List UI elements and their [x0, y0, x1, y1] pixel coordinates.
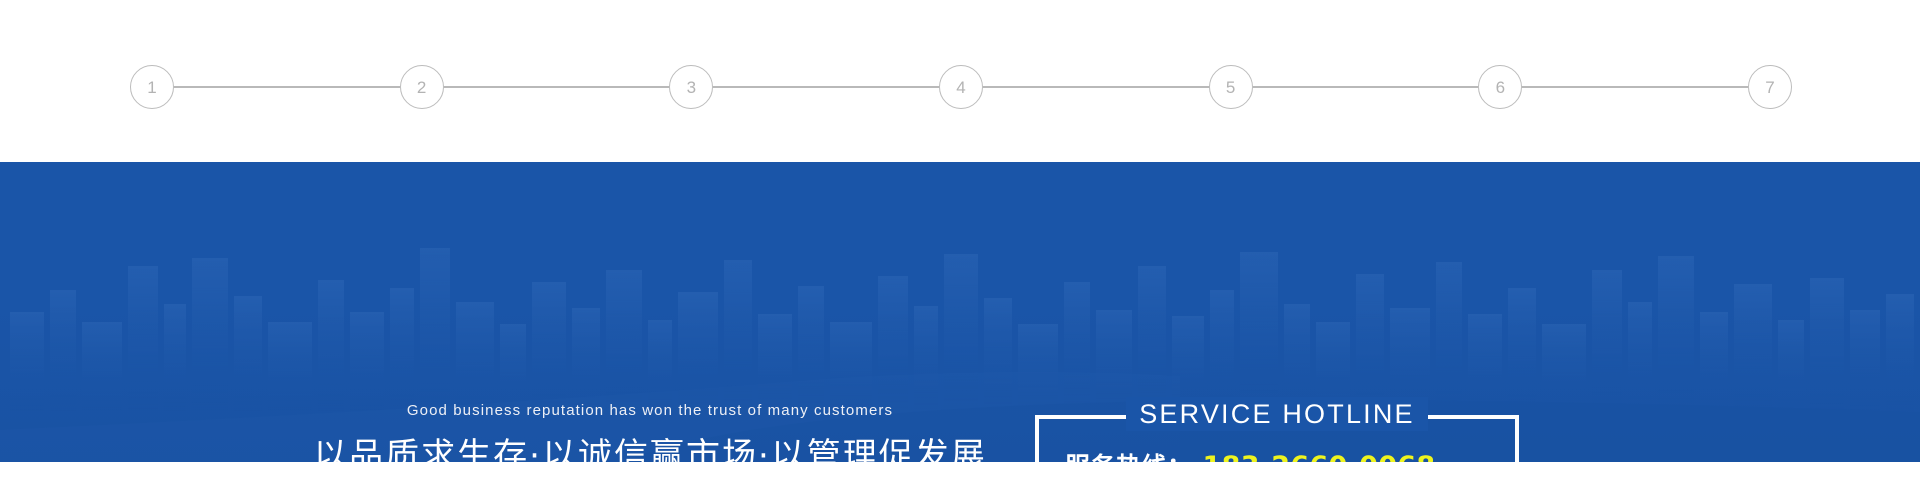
step-node-label: 1 [147, 79, 156, 96]
step-node-6[interactable]: 6 [1478, 65, 1522, 109]
slogan-headline: 以品质求生存·以诚信赢市场·以管理促发展 [140, 437, 1160, 462]
step-connector [174, 86, 400, 88]
hotline-label: 服务热线： [1065, 453, 1193, 462]
step-node-label: 7 [1765, 79, 1774, 96]
service-hotline-title-wrap: SERVICE HOTLINE [1039, 397, 1515, 431]
slogan-block: Good business reputation has won the tru… [140, 402, 1160, 462]
promo-banner: Good business reputation has won the tru… [0, 162, 1920, 462]
step-node-5[interactable]: 5 [1209, 65, 1253, 109]
step-node-7[interactable]: 7 [1748, 65, 1792, 109]
hotline-number-primary[interactable]: 183-2660-0068 [1203, 451, 1436, 462]
step-connector [713, 86, 939, 88]
step-node-label: 2 [417, 79, 426, 96]
step-node-4[interactable]: 4 [939, 65, 983, 109]
step-connector [1253, 86, 1479, 88]
step-node-label: 3 [687, 79, 696, 96]
hotline-row-primary: 服务热线： 183-2660-0068 [1065, 451, 1515, 462]
step-node-label: 4 [956, 79, 965, 96]
step-node-label: 6 [1496, 79, 1505, 96]
service-hotline-rows: 服务热线： 183-2660-0068 0551-63749777 [1039, 451, 1515, 462]
service-hotline-box: SERVICE HOTLINE 服务热线： 183-2660-0068 0551… [1035, 415, 1519, 462]
step-node-label: 5 [1226, 79, 1235, 96]
step-connector [444, 86, 670, 88]
step-node-2[interactable]: 2 [400, 65, 444, 109]
step-node-3[interactable]: 3 [669, 65, 713, 109]
page-root: 1234567 [0, 0, 1920, 500]
step-progress-indicator: 1234567 [0, 0, 1920, 162]
step-node-1[interactable]: 1 [130, 65, 174, 109]
service-hotline-title: SERVICE HOTLINE [1126, 397, 1428, 431]
step-connector [983, 86, 1209, 88]
slogan-english: Good business reputation has won the tru… [140, 402, 1160, 420]
step-connector [1522, 86, 1748, 88]
